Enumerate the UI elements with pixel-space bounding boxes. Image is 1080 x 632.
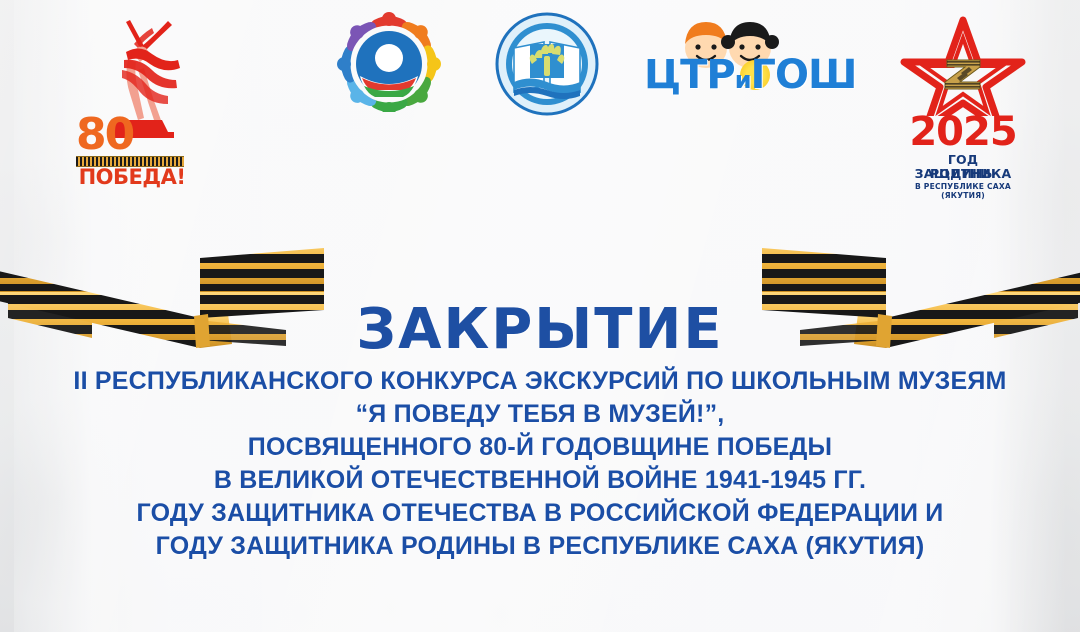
- circle-of-people-icon: [330, 8, 448, 112]
- logo-2025-year: 2025: [898, 112, 1028, 152]
- logo-ctr-text: ЦТРиГОШ: [644, 52, 824, 98]
- logo-year-2025: 2025 ГОД ЗАЩИТНИКА РОДИНЫ В РЕСПУБЛИКЕ С…: [898, 16, 1028, 188]
- subtitle-line-5: ГОДУ ЗАЩИТНИКА ОТЕЧЕСТВА В РОССИЙСКОЙ ФЕ…: [0, 497, 1080, 530]
- logo-education-department: [492, 12, 602, 116]
- page-title: ЗАКРЫТИЕ: [0, 300, 1080, 360]
- logo-2025-line3: В РЕСПУБЛИКЕ САХА (ЯКУТИЯ): [898, 182, 1028, 200]
- logo-80-caption: ПОБЕДА!: [72, 165, 192, 189]
- logo-row: 80 ПОБЕДА!: [0, 0, 1080, 200]
- subtitle-line-6: ГОДУ ЗАЩИТНИКА РОДИНЫ В РЕСПУБЛИКЕ САХА …: [0, 530, 1080, 563]
- logo-ctr-second: ГОШ: [751, 52, 857, 98]
- logo-80-number: 80: [76, 112, 176, 158]
- logo-victory-80: 80 ПОБЕДА!: [72, 8, 202, 188]
- logo-ctr-conj: и: [735, 66, 751, 94]
- logo-yakutia-people: [330, 8, 448, 112]
- subtitle-line-2: “Я ПОВЕДУ ТЕБЯ В МУЗЕЙ!”,: [0, 398, 1080, 431]
- main-text-block: ЗАКРЫТИЕ II РЕСПУБЛИКАНСКОГО КОНКУРСА ЭК…: [0, 300, 1080, 563]
- poster-canvas: 80 ПОБЕДА!: [0, 0, 1080, 632]
- logo-ctr-main: ЦТР: [644, 52, 735, 98]
- subtitle-line-4: В ВЕЛИКОЙ ОТЕЧЕСТВЕННОЙ ВОЙНЕ 1941-1945 …: [0, 464, 1080, 497]
- red-star-with-z-icon: [898, 16, 1028, 116]
- logo-2025-line2: РОДИНЫ: [898, 167, 1028, 181]
- logo-ctr-gosh: ЦТРиГОШ: [644, 14, 824, 102]
- open-book-emblem-icon: [492, 12, 602, 116]
- subtitle-line-3: ПОСВЯЩЕННОГО 80-Й ГОДОВЩИНЕ ПОБЕДЫ: [0, 431, 1080, 464]
- subtitle-line-1: II РЕСПУБЛИКАНСКОГО КОНКУРСА ЭКСКУРСИЙ П…: [0, 365, 1080, 398]
